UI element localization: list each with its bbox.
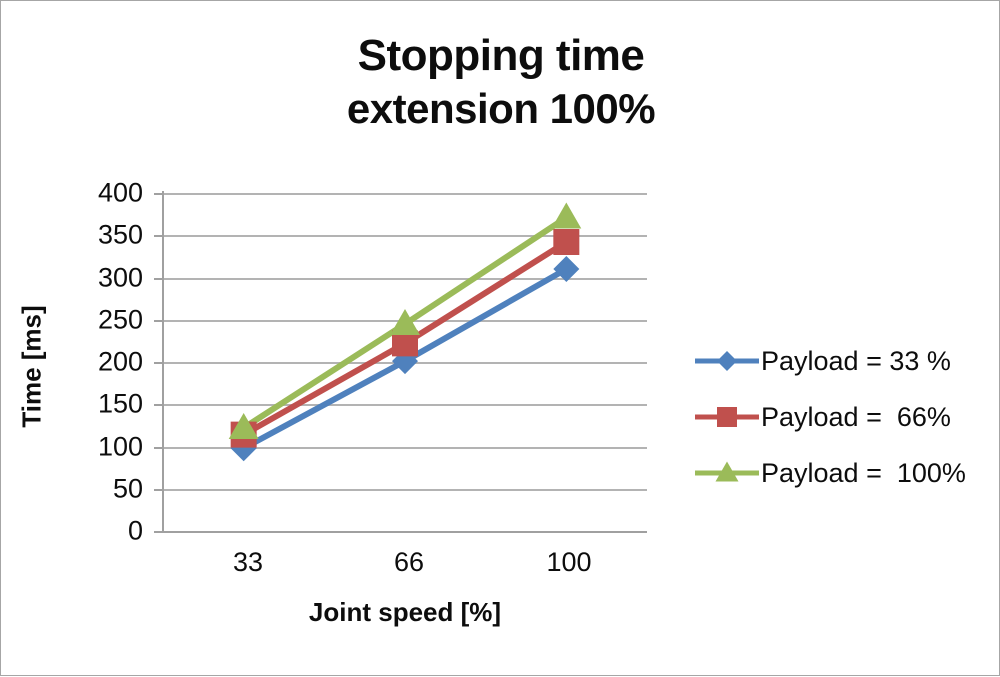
y-tick-label: 400 (81, 178, 143, 209)
y-tick-mark (154, 489, 162, 491)
gridline (163, 447, 647, 449)
plot-area (163, 193, 647, 531)
y-tick-mark (154, 235, 162, 237)
x-tick-label: 100 (509, 547, 629, 578)
y-tick-label: 0 (81, 516, 143, 547)
gridline (163, 489, 647, 491)
legend-key-payload-33 (693, 346, 761, 376)
y-tick-mark (154, 531, 162, 533)
y-axis-title: Time [ms] (17, 297, 48, 437)
chart-canvas: Stopping time extension 100% 400 350 300… (0, 0, 1000, 676)
legend-item[interactable]: Payload = 100% (693, 445, 993, 501)
gridline (163, 404, 647, 406)
y-tick-mark (154, 362, 162, 364)
legend-key-payload-100 (693, 458, 761, 488)
x-axis-title: Joint speed [%] (163, 597, 647, 628)
gridline (163, 278, 647, 280)
chart-title-line-1: Stopping time (358, 31, 645, 80)
x-axis-line (162, 531, 647, 533)
y-tick-mark (154, 320, 162, 322)
chart-title: Stopping time extension 100% (1, 29, 1000, 134)
y-tick-mark (154, 193, 162, 195)
y-tick-label: 250 (81, 304, 143, 335)
legend-item[interactable]: Payload = 33 % (693, 333, 993, 389)
y-tick-mark (154, 278, 162, 280)
y-tick-label: 350 (81, 220, 143, 251)
chart-legend: Payload = 33 % Payload = 66% Payload = 1… (693, 333, 993, 501)
legend-item[interactable]: Payload = 66% (693, 389, 993, 445)
y-tick-label: 100 (81, 431, 143, 462)
gridline (163, 193, 647, 195)
legend-label: Payload = 66% (761, 402, 951, 433)
y-axis-line (162, 191, 164, 533)
y-tick-mark (154, 404, 162, 406)
gridline (163, 320, 647, 322)
y-tick-label: 200 (81, 347, 143, 378)
legend-label: Payload = 100% (761, 458, 966, 489)
y-tick-mark (154, 447, 162, 449)
y-tick-label: 150 (81, 389, 143, 420)
y-axis-tick-labels: 400 350 300 250 200 150 100 50 0 (81, 1, 143, 677)
x-tick-label: 66 (349, 547, 469, 578)
y-tick-label: 300 (81, 262, 143, 293)
x-tick-label: 33 (188, 547, 308, 578)
legend-label: Payload = 33 % (761, 346, 951, 377)
gridline (163, 362, 647, 364)
y-tick-label: 50 (81, 473, 143, 504)
chart-title-line-2: extension 100% (1, 83, 1000, 134)
gridline (163, 235, 647, 237)
legend-key-payload-66 (693, 402, 761, 432)
